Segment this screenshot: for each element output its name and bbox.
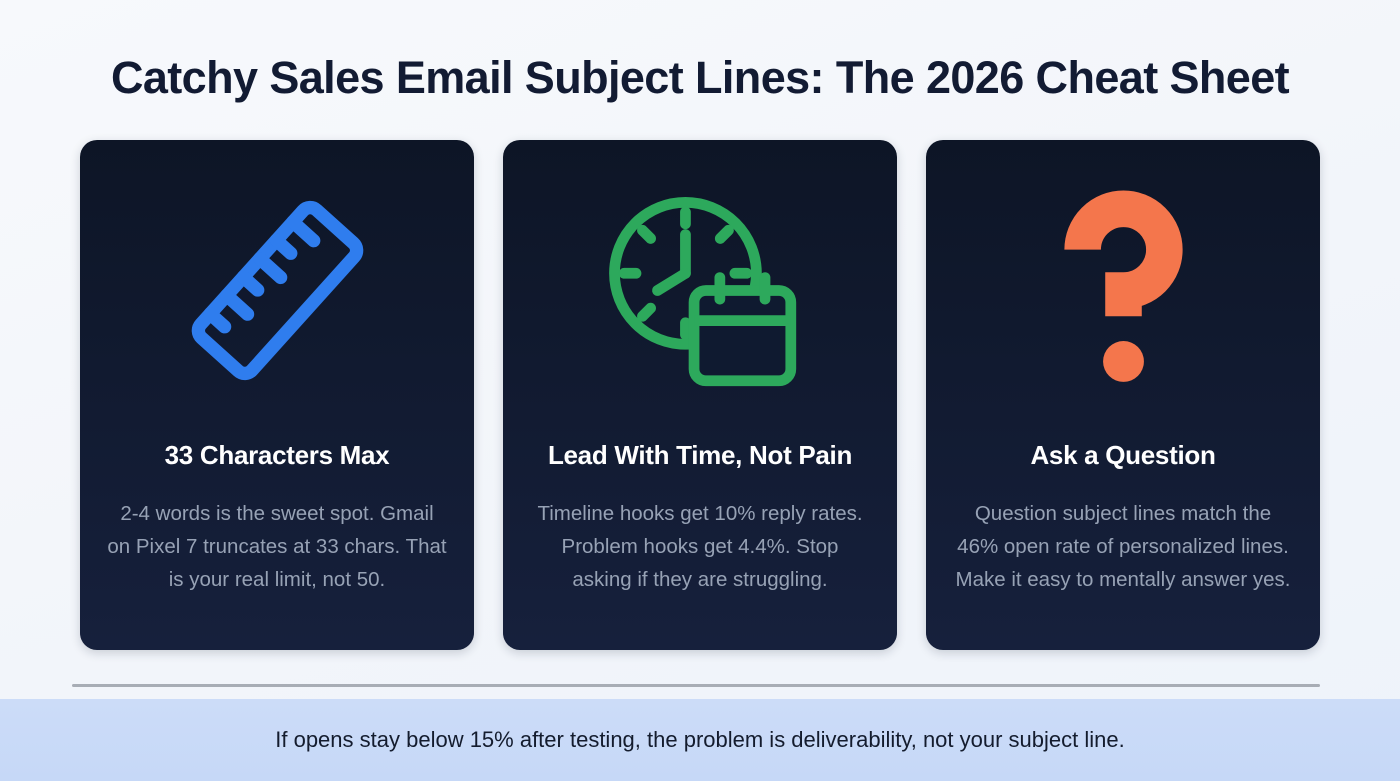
card-body: Timeline hooks get 10% reply rates. Prob… — [530, 497, 870, 596]
ruler-icon — [102, 140, 452, 440]
infographic-page: Catchy Sales Email Subject Lines: The 20… — [0, 0, 1400, 781]
footer-banner: If opens stay below 15% after testing, t… — [0, 699, 1400, 781]
card-title: 33 Characters Max — [165, 440, 390, 471]
clock-calendar-icon — [525, 140, 875, 440]
card-body: 2-4 words is the sweet spot. Gmail on Pi… — [107, 497, 447, 596]
footer-divider — [72, 684, 1320, 687]
card-title: Ask a Question — [1030, 440, 1215, 471]
card-characters-max: 33 Characters Max 2-4 words is the sweet… — [80, 140, 474, 650]
page-title: Catchy Sales Email Subject Lines: The 20… — [0, 52, 1400, 104]
question-mark-icon — [948, 140, 1298, 440]
footer-note: If opens stay below 15% after testing, t… — [275, 727, 1124, 753]
card-ask-a-question: Ask a Question Question subject lines ma… — [926, 140, 1320, 650]
card-body: Question subject lines match the 46% ope… — [953, 497, 1293, 596]
card-title: Lead With Time, Not Pain — [548, 440, 852, 471]
card-grid: 33 Characters Max 2-4 words is the sweet… — [80, 140, 1320, 650]
card-lead-with-time: Lead With Time, Not Pain Timeline hooks … — [503, 140, 897, 650]
